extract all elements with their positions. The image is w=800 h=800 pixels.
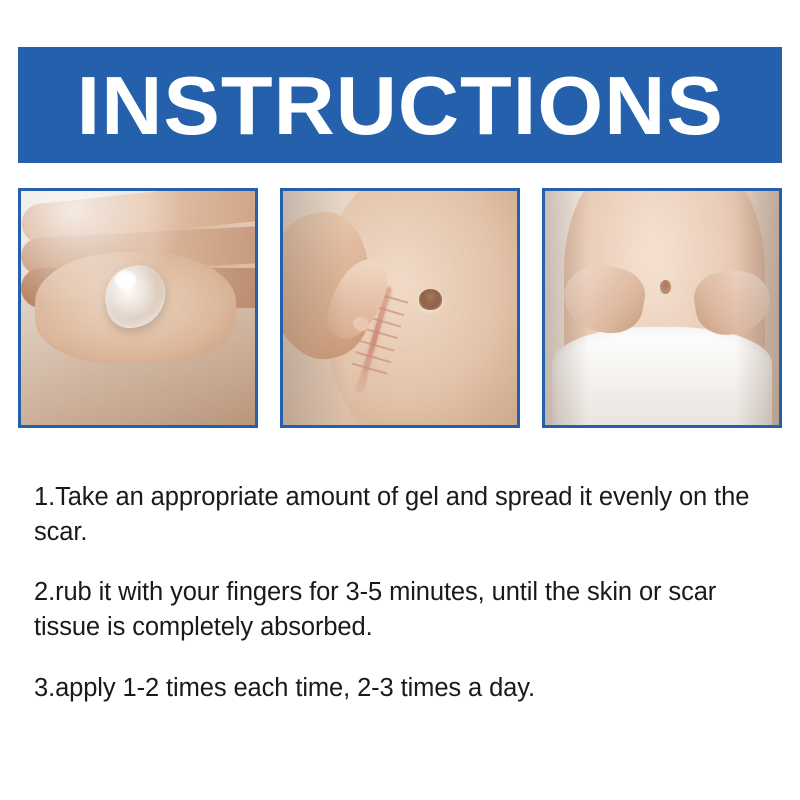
- instructions-page: INSTRUCTIONS: [0, 0, 800, 800]
- navel-shape: [419, 289, 442, 310]
- photo-row: [18, 188, 782, 428]
- instruction-step-2: 2.rub it with your fingers for 3-5 minut…: [34, 575, 764, 644]
- instruction-steps: 1.Take an appropriate amount of gel and …: [34, 480, 764, 731]
- instruction-step-3: 3.apply 1-2 times each time, 2-3 times a…: [34, 671, 764, 706]
- photo-scar-image: [283, 191, 517, 425]
- instructions-banner: INSTRUCTIONS: [18, 47, 782, 163]
- instruction-step-1: 1.Take an appropriate amount of gel and …: [34, 480, 764, 549]
- soft-light: [21, 191, 185, 308]
- photo-gel-in-palm-image: [21, 191, 255, 425]
- photo-gel-in-palm: [18, 188, 258, 428]
- photo-hands-on-waist: [542, 188, 782, 428]
- photo-waist-image: [545, 191, 779, 425]
- edge-shadow: [283, 191, 363, 425]
- left-edge-shadow: [545, 191, 596, 425]
- photo-scar-on-abdomen: [280, 188, 520, 428]
- right-edge-shadow: [728, 191, 779, 425]
- page-title: INSTRUCTIONS: [76, 64, 723, 147]
